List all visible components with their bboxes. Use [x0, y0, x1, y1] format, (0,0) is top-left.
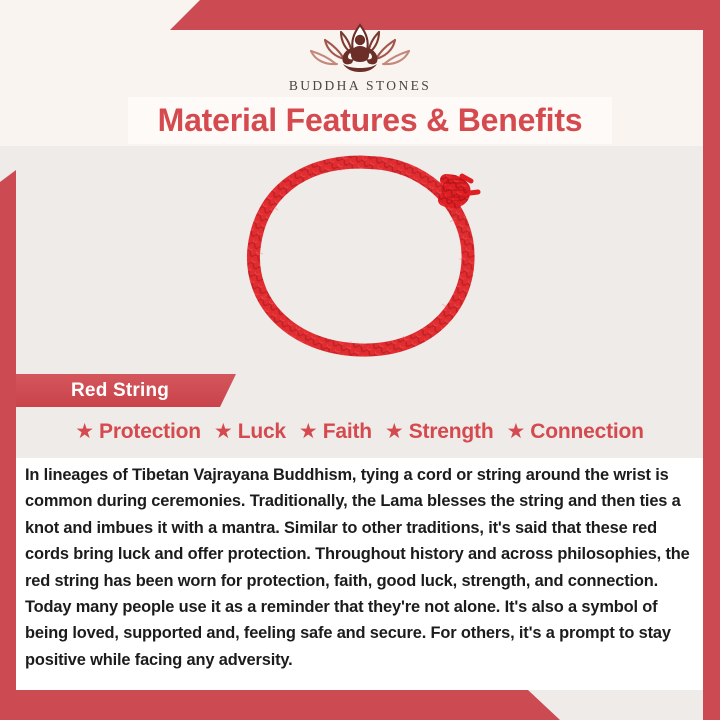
ribbon-label-text: Red String — [71, 380, 169, 402]
benefit-item-connection: ★ Connection — [506, 420, 643, 444]
page-title: Material Features & Benefits — [158, 102, 583, 139]
benefit-label: Strength — [409, 420, 494, 444]
benefit-item-protection: ★ Protection — [75, 420, 201, 444]
benefit-item-strength: ★ Strength — [385, 420, 494, 444]
description-paragraph: In lineages of Tibetan Vajrayana Buddhis… — [25, 462, 691, 673]
benefit-label: Connection — [530, 420, 644, 444]
brand-name: BUDDHA STONES — [0, 78, 720, 94]
star-icon: ★ — [299, 421, 318, 442]
frame-bottom-bar — [0, 690, 560, 720]
star-icon: ★ — [214, 421, 233, 442]
lotus-meditation-icon — [301, 20, 419, 76]
frame-right-bar — [703, 0, 720, 720]
description-panel: In lineages of Tibetan Vajrayana Buddhis… — [16, 458, 703, 690]
benefit-item-faith: ★ Faith — [299, 420, 372, 444]
benefit-label: Faith — [323, 420, 372, 444]
benefit-label: Luck — [238, 420, 286, 444]
product-image-area — [16, 146, 703, 368]
red-braided-string-bracelet — [210, 152, 510, 362]
benefit-label: Protection — [99, 420, 201, 444]
benefit-item-luck: ★ Luck — [214, 420, 286, 444]
infographic-page: BUDDHA STONES Material Features & Benefi… — [0, 0, 720, 720]
star-icon: ★ — [385, 421, 404, 442]
frame-left-bar — [0, 170, 16, 720]
title-banner: Material Features & Benefits — [128, 97, 612, 144]
benefits-list: ★ Protection ★ Luck ★ Faith ★ Strength ★… — [16, 420, 703, 444]
brand-logo: BUDDHA STONES — [0, 20, 720, 94]
ribbon-label: Red String — [16, 374, 236, 407]
star-icon: ★ — [75, 421, 94, 442]
star-icon: ★ — [506, 421, 525, 442]
